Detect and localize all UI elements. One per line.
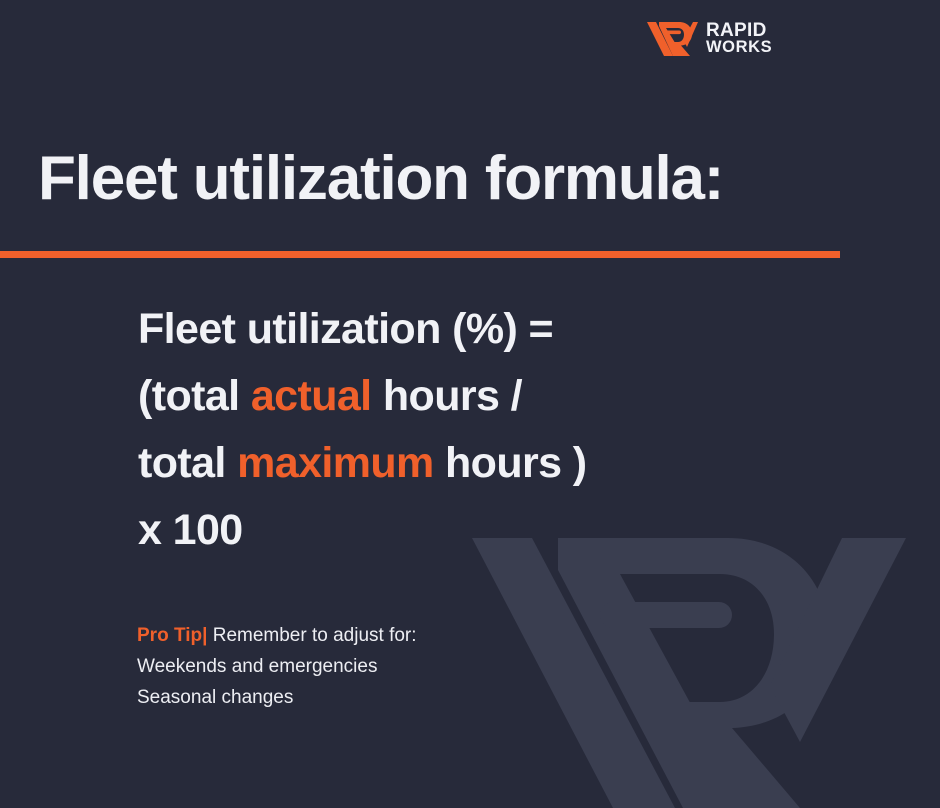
brand-wordmark: RAPID WORKS (706, 22, 772, 56)
background-watermark-logo (470, 536, 940, 808)
formula-block: Fleet utilization (%) = (total actual ho… (138, 296, 587, 564)
formula-line-3-prefix: total (138, 439, 237, 487)
pro-tip-block: Pro Tip| Remember to adjust for: Weekend… (137, 621, 417, 714)
rapidworks-rw-watermark-icon (472, 538, 906, 808)
pro-tip-intro: Remember to adjust for: (207, 625, 416, 646)
formula-line-2: (total actual hours / (138, 363, 587, 430)
pro-tip-item-2: Seasonal changes (137, 683, 417, 714)
formula-line-2-prefix: (total (138, 372, 251, 420)
pro-tip-heading-row: Pro Tip| Remember to adjust for: (137, 621, 417, 652)
pro-tip-item-1: Weekends and emergencies (137, 652, 417, 683)
formula-line-1: Fleet utilization (%) = (138, 296, 587, 363)
formula-line-3: total maximum hours ) (138, 430, 587, 497)
formula-highlight-actual: actual (251, 372, 372, 420)
page-title: Fleet utilization formula: (38, 143, 723, 214)
formula-line-4-text: x 100 (138, 506, 243, 554)
formula-line-3-suffix: hours ) (434, 439, 587, 487)
pro-tip-label: Pro Tip (137, 625, 202, 646)
formula-line-1-text: Fleet utilization (%) = (138, 305, 553, 353)
formula-line-2-suffix: hours / (372, 372, 523, 420)
title-divider-rule (0, 251, 840, 258)
brand-name-line2: WORKS (706, 40, 772, 56)
formula-line-4: x 100 (138, 497, 587, 564)
rapidworks-rw-monogram-icon (646, 21, 698, 57)
brand-logo[interactable]: RAPID WORKS (646, 14, 778, 64)
formula-highlight-maximum: maximum (237, 439, 434, 487)
